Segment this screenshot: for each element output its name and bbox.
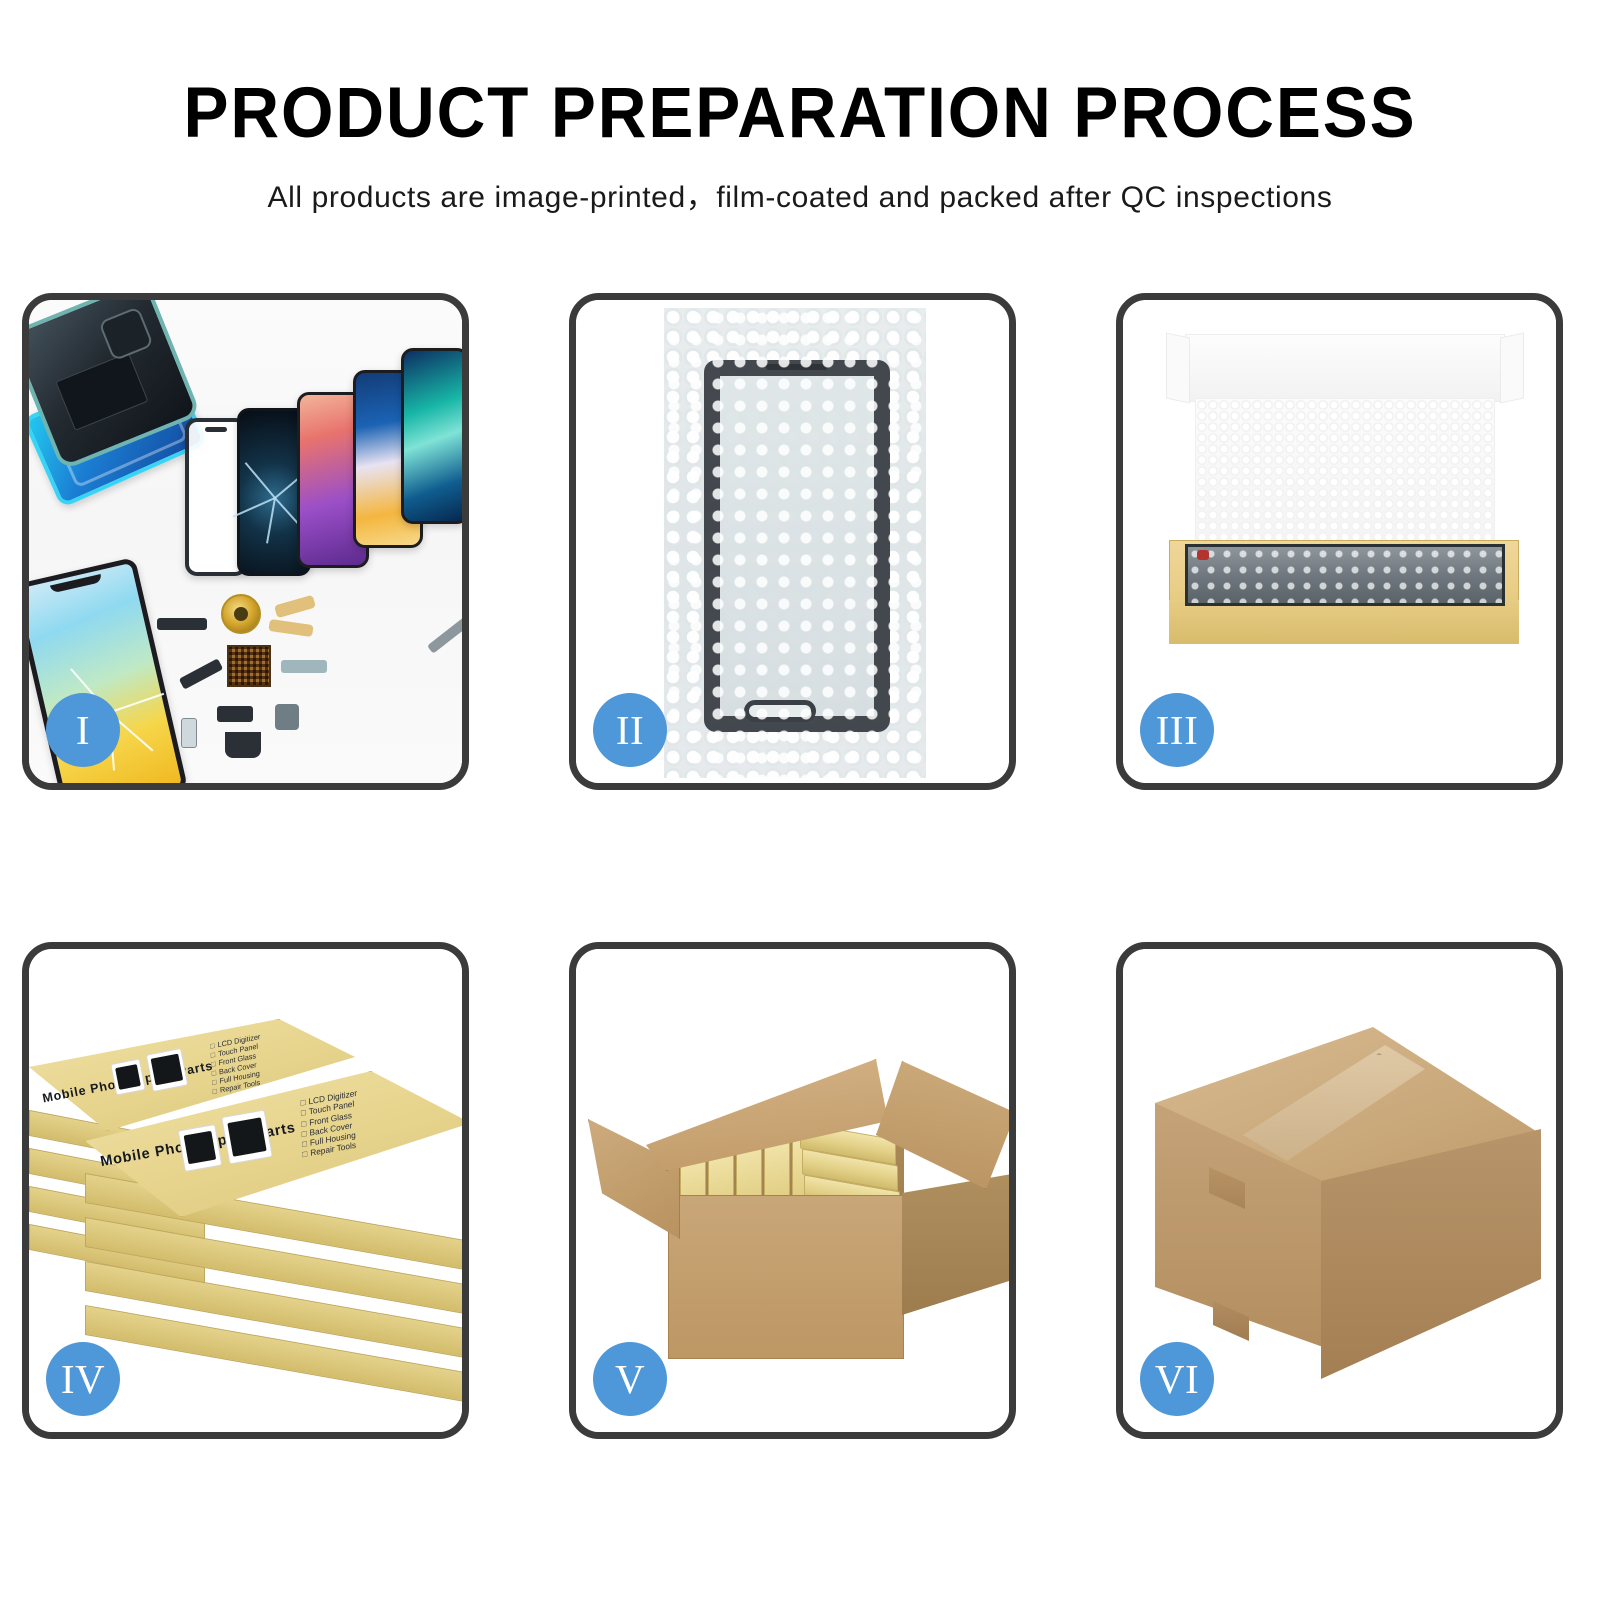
- process-steps-grid: I II III: [22, 293, 1578, 1439]
- page-title: PRODUCT PREPARATION PROCESS: [40, 78, 1560, 150]
- retail-box-rear-phone-image-1: [110, 1058, 146, 1095]
- retail-box-front-phone-image-1: [178, 1124, 223, 1172]
- retail-box-front-phone-image-2: [221, 1110, 273, 1165]
- step-panel-2: II: [569, 293, 1016, 790]
- infographic-page: PRODUCT PREPARATION PROCESS All products…: [0, 0, 1600, 1600]
- wrapped-screen-assembly: [704, 360, 890, 732]
- retail-box-rear-phone-image-2: [146, 1048, 189, 1092]
- step-panel-6: VI: [1116, 942, 1563, 1439]
- step-panel-4: Mobile Phone Spare Parts LCD Digitizer T…: [22, 942, 469, 1439]
- vibration-motor-part: [217, 706, 253, 722]
- kraft-box-front-wall: [1169, 600, 1519, 644]
- ic-chip-part: [227, 645, 271, 687]
- header: PRODUCT PREPARATION PROCESS All products…: [0, 78, 1600, 216]
- page-subtitle: All products are image-printed，film-coat…: [0, 172, 1600, 216]
- step-panel-1: I: [22, 293, 469, 790]
- wrapped-screen-in-box: [1185, 544, 1505, 606]
- speaker-coil-part: [221, 594, 261, 634]
- camera-module-part: [275, 704, 299, 730]
- home-button-cutout: [744, 700, 816, 722]
- retail-box-front-checklist: LCD Digitizer Touch Panel Front Glass Ba…: [300, 1088, 359, 1160]
- step-badge-4: IV: [46, 1342, 120, 1416]
- step-badge-6: VI: [1140, 1342, 1214, 1416]
- box-lid-open: [1185, 334, 1505, 402]
- step-panel-3: III: [1116, 293, 1563, 790]
- step-panel-5: V: [569, 942, 1016, 1439]
- flex-cable-part-4: [281, 660, 327, 673]
- step-badge-2: II: [593, 693, 667, 767]
- step-badge-5: V: [593, 1342, 667, 1416]
- speaker-part: [225, 732, 261, 758]
- carton-front-wall: [668, 1195, 904, 1359]
- foam-padding-sheet: [1195, 398, 1495, 546]
- retail-box-rear-checklist: LCD Digitizer Touch Panel Front Glass Ba…: [210, 1032, 263, 1096]
- step-badge-1: I: [46, 693, 120, 767]
- connector-marker: [1197, 550, 1209, 560]
- step-badge-3: III: [1140, 693, 1214, 767]
- phone-display-teal: [401, 348, 462, 524]
- sim-tray-part: [181, 718, 197, 748]
- antenna-strip-part: [157, 618, 207, 630]
